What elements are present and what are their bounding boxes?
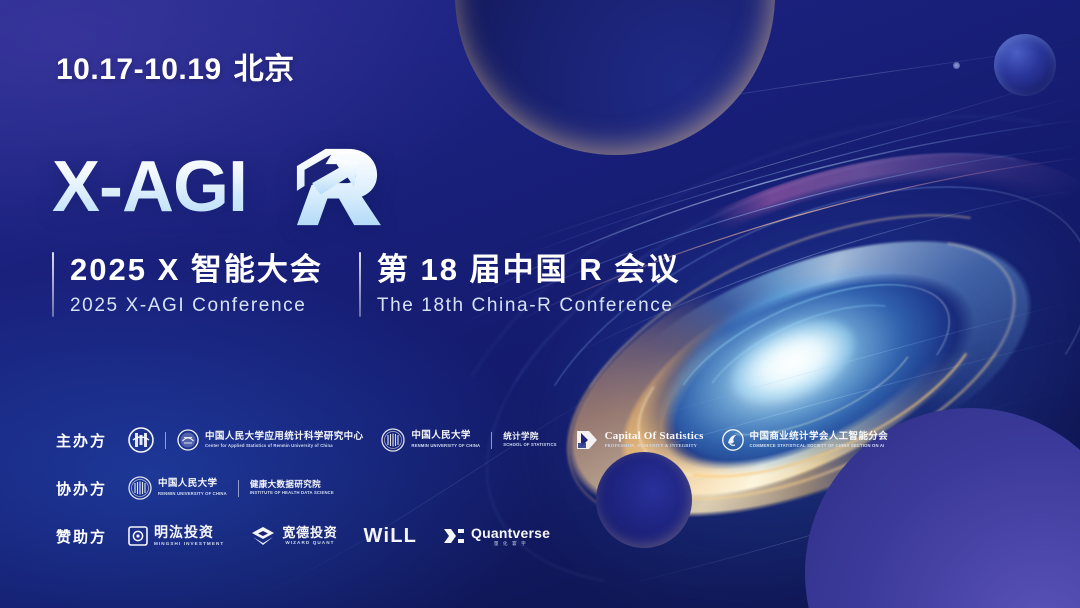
logo-text-en: RENMIN UNIVERSITY OF CHINA [158,492,227,496]
logo-text-cn: 中国商业统计学会人工智能分会 [750,432,889,442]
x-agi-wordmark: X-AGI [52,151,247,223]
quantverse-x-icon [443,527,465,545]
partners-section: 主办方 中国人民大学应用统计 [56,420,696,564]
partner-row-coorganizers: 协办方 中国人民大学 RENMIN UNIVERSITY OF CHINA 健康… [56,468,696,508]
partner-label-organizer: 主办方 [56,430,128,451]
logo-text-cn: 中国人民大学 [158,480,227,490]
planet-sphere-small [994,34,1056,96]
ruc-seal-icon [381,428,405,452]
wizard-quant-diamond-icon [250,526,276,546]
logo-mingshi-investment[interactable]: 明汯投资 MINGSHI INVESTMENT [128,525,224,546]
logo-text-en: Center for Applied Statistics of Renmin … [205,444,363,448]
partner-row-organizers: 主办方 中国人民大学应用统计 [56,420,696,460]
logo-text-en: PROFESSION, HUMANITY & INTEGRITY [605,444,704,448]
star-dot [953,62,960,69]
title-en-xagi: 2025 X-AGI Conference [70,295,323,317]
logo-ruc-stats-school[interactable]: 中国人民大学 RENMIN UNIVERSITY OF CHINA 统计学院 S… [381,428,556,452]
logo-text-will: WiLL [364,525,418,548]
logo-text-en: WIZARD QUANT [282,541,337,546]
mingshi-mark-icon [128,526,148,546]
logo-text-en: COMMERCE STATISTICAL SOCIETY OF CHINA SE… [750,444,889,448]
ruc-seal-icon [128,476,152,500]
partner-label-coorganizer: 协办方 [56,478,128,499]
partner-row-sponsors: 赞助方 明汯投资 MINGSHI INVESTMENT [56,516,696,556]
logo-will[interactable]: WiLL [364,525,418,548]
logo-text-en: RENMIN UNIVERSITY OF CHINA [411,444,480,448]
event-date: 10.17-10.19 [56,53,222,86]
event-date-location: 10.17-10.19北京 [56,44,295,88]
logo-ruc-health-data[interactable]: 中国人民大学 RENMIN UNIVERSITY OF CHINA 健康大数据研… [128,476,334,500]
logo-cas-ruc[interactable]: 中国人民大学应用统计科学研究中心 Center for Applied Stat… [128,427,363,453]
cas-seal-icon [177,429,199,451]
logo-text-cn: 明汯投资 [154,525,224,539]
title-block-xagi: 2025 X 智能大会 2025 X-AGI Conference [52,252,323,317]
conference-titles: 2025 X 智能大会 2025 X-AGI Conference 第 18 届… [52,252,680,317]
title-divider-bar [52,252,54,317]
logo-text-quantverse-cn: 量 化 寰 宇 [471,542,550,547]
logo-capital-of-statistics[interactable]: Capital Of Statistics PROFESSION, HUMANI… [575,429,704,451]
logo-cssc-ai[interactable]: 中国商业统计学会人工智能分会 COMMERCE STATISTICAL SOCI… [722,429,889,451]
logo-text-cn: 宽德投资 [282,526,337,539]
logo-wizard-quant[interactable]: 宽德投资 WIZARD QUANT [250,526,337,546]
logo-text-cn: Capital Of Statistics [605,431,704,442]
title-en-chinar: The 18th China-R Conference [377,295,680,317]
title-block-chinar: 第 18 届中国 R 会议 The 18th China-R Conferenc… [359,252,680,317]
logo-text-en: MINGSHI INVESTMENT [154,542,224,547]
logo-text-en-2: INSTITUTE OF HEALTH DATA SCIENCE [250,491,334,495]
logo-text-en-2: SCHOOL OF STATISTICS [503,443,556,447]
title-cn-xagi: 2025 X 智能大会 [70,252,323,288]
cssc-ai-icon [722,429,744,451]
logo-text-cn-2: 统计学院 [503,432,556,441]
china-r-logo-icon [289,145,385,229]
logo-divider [165,432,166,449]
conference-poster: 10.17-10.19北京 X-AGI 2025 X 智能大会 2025 X [0,0,1080,608]
logo-text-quantverse: Quantverse [471,526,550,540]
logo-text-cn-2: 健康大数据研究院 [250,480,334,489]
partner-label-sponsor: 赞助方 [56,526,128,547]
logo-divider [238,480,239,497]
title-divider-bar-2 [359,252,361,317]
logo-divider [491,432,492,449]
event-city: 北京 [234,53,295,86]
logo-quantverse[interactable]: Quantverse 量 化 寰 宇 [443,526,550,547]
logo-text-cn: 中国人民大学 [411,432,480,442]
brand-logo-row: X-AGI [52,145,385,229]
title-cn-chinar: 第 18 届中国 R 会议 [377,252,680,288]
logo-text-cn: 中国人民大学应用统计科学研究中心 [205,432,363,442]
planet-sphere-top [455,0,775,155]
vortex-core-hotspot [719,303,866,420]
cas-ruc-emblem-icon [128,427,154,453]
cos-mark-icon [575,429,599,451]
